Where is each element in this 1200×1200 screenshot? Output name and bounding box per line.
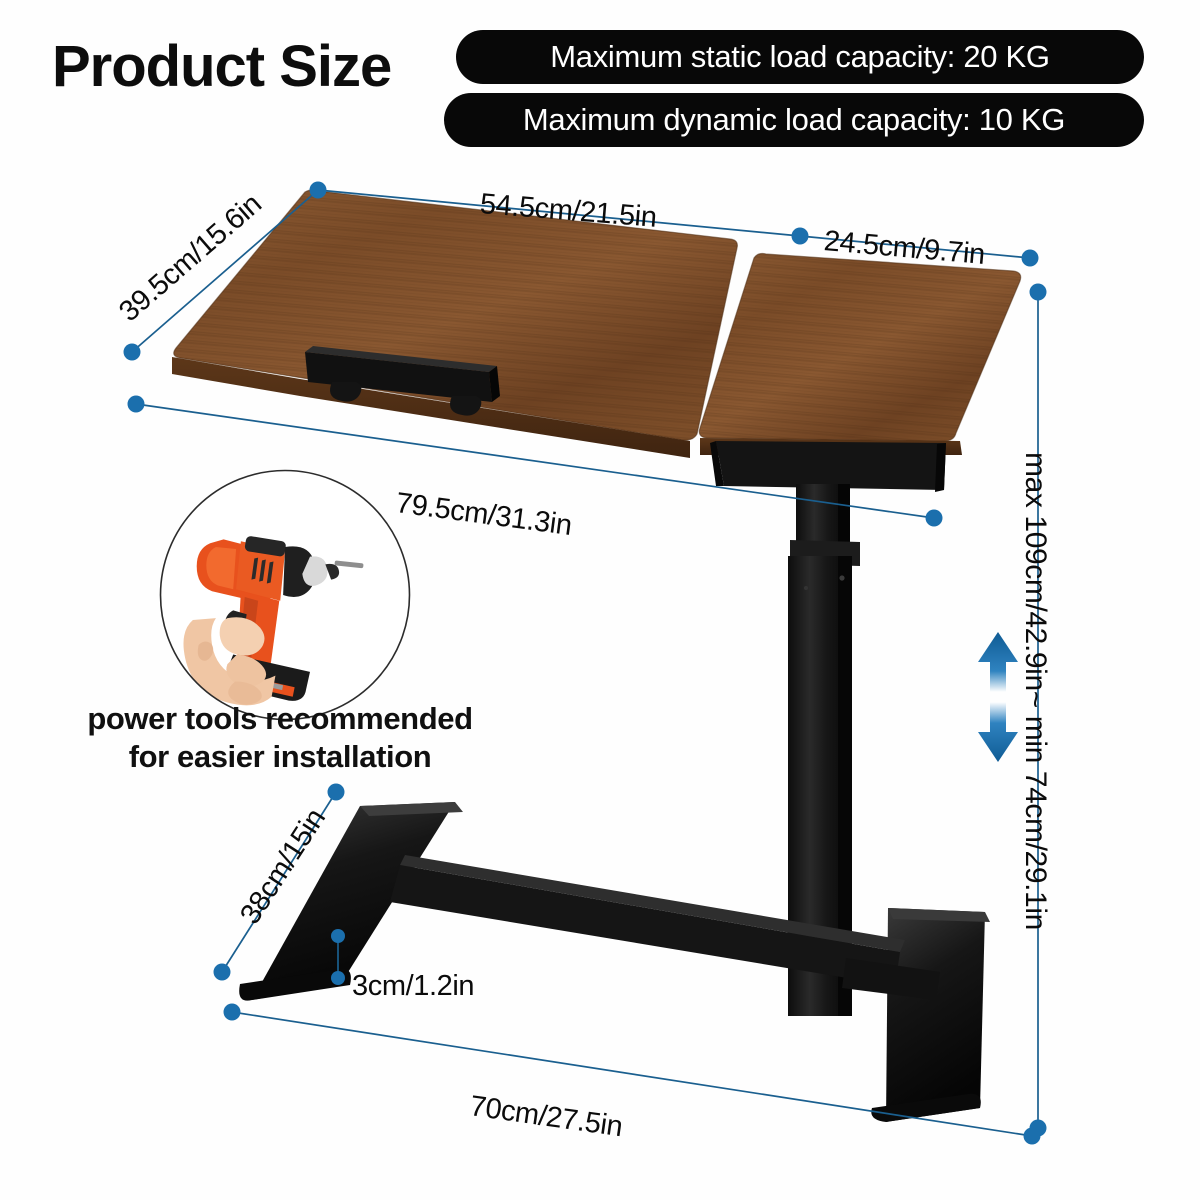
dimension-endpoint-dot — [331, 929, 345, 943]
callout-caption: power tools recommended for easier insta… — [40, 700, 520, 776]
dimension-endpoint-dot — [310, 182, 327, 199]
dimension-endpoint-dot — [792, 228, 809, 245]
dimension-endpoint-dot — [1030, 284, 1047, 301]
dimension-label-height-range: max 109cm/42.9in~ min 74cm/29.1in — [1018, 452, 1052, 930]
arrow-down-icon — [978, 702, 1018, 762]
tabletop-side-panel — [699, 254, 1020, 456]
dimension-endpoint-dot — [331, 971, 345, 985]
infographic-canvas: Product Size Maximum static load capacit… — [0, 0, 1200, 1200]
dimension-endpoint-dot — [1024, 1128, 1041, 1145]
dimension-endpoint-dot — [328, 784, 345, 801]
dimension-endpoint-dot — [214, 964, 231, 981]
dimension-endpoint-dot — [926, 510, 943, 527]
dimension-endpoint-dot — [124, 344, 141, 361]
dimension-label-base-thickness: 3cm/1.2in — [352, 970, 474, 1003]
dimension-endpoint-dot — [224, 1004, 241, 1021]
callout-caption-line-1: power tools recommended — [40, 700, 520, 738]
dimension-endpoint-dot — [1022, 250, 1039, 267]
arrow-up-icon — [978, 632, 1018, 692]
dimension-endpoint-dot — [128, 396, 145, 413]
base-frame — [239, 802, 990, 1122]
callout-caption-line-2: for easier installation — [40, 738, 520, 776]
